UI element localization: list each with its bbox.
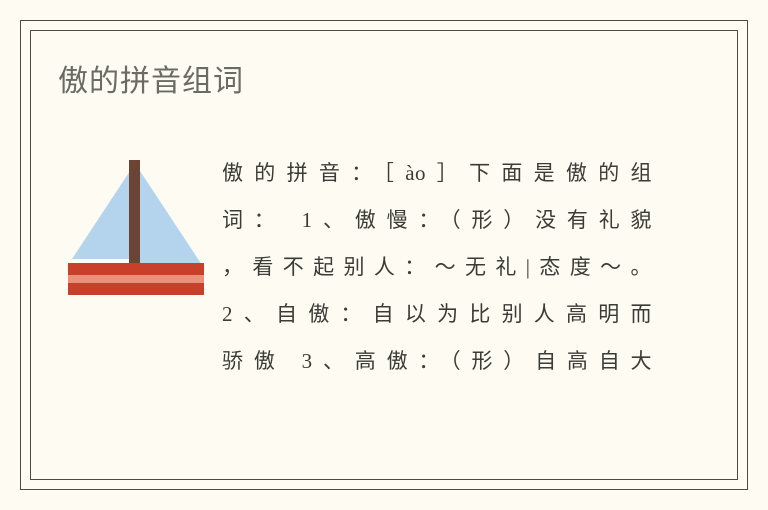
right-sail-shape: [140, 171, 202, 265]
definition-line: 词： 1、傲慢：（形）没有礼貌: [222, 197, 652, 244]
content-row: 傲的拼音：［ào］下面是傲的组 词： 1、傲慢：（形）没有礼貌 ，看不起别人：～…: [0, 150, 768, 410]
definition-line: ，看不起别人：～无礼|态度～。: [222, 244, 652, 291]
page-title: 傲的拼音组词: [58, 62, 244, 102]
flashcard-container: 傲的拼音组词 傲的拼音：［ào］下面是傲的组 词： 1、傲慢：（形）没有礼貌: [0, 0, 768, 510]
sailboat-icon: [60, 155, 210, 295]
hull-deck-shape: [68, 263, 204, 277]
definition-line: 骄傲 3、高傲：（形）自高自大: [222, 338, 652, 385]
definition-line: 傲的拼音：［ào］下面是傲的组: [222, 150, 652, 197]
definition-line: 2、自傲：自以为比别人高明而: [222, 291, 652, 338]
hull-body-shape: [68, 283, 204, 295]
hull-stripe-shape: [68, 275, 204, 284]
definition-text: 傲的拼音：［ào］下面是傲的组 词： 1、傲慢：（形）没有礼貌 ，看不起别人：～…: [222, 150, 652, 385]
left-sail-shape: [72, 171, 130, 259]
mast-shape: [129, 160, 140, 270]
